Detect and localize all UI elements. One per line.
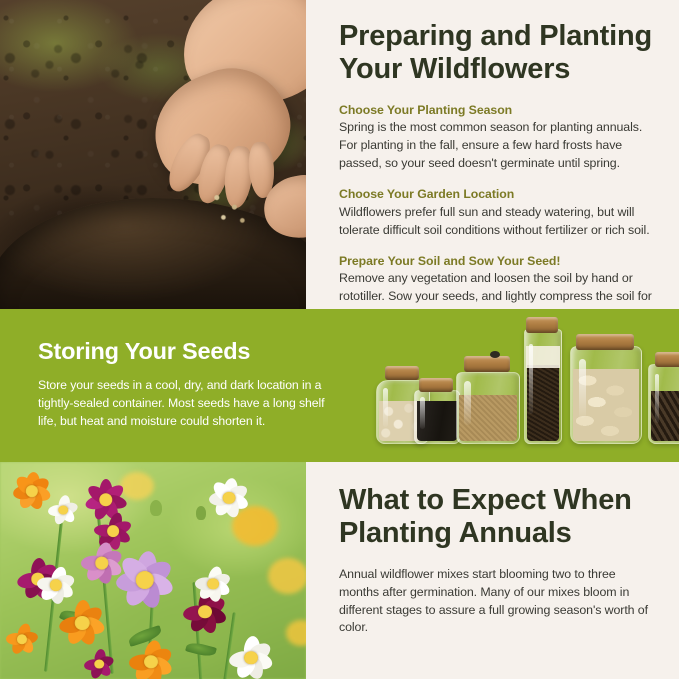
storing-title: Storing Your Seeds <box>38 338 338 365</box>
storing-text-group: Storing Your Seeds Store your seeds in a… <box>38 338 338 430</box>
storing-seeds-section: Storing Your Seeds Store your seeds in a… <box>0 309 679 462</box>
subhead-planting-season: Choose Your Planting Season <box>339 102 653 119</box>
preparing-section: Preparing and Planting Your Wildflowers … <box>0 0 679 309</box>
jar-knob <box>490 351 500 358</box>
seed-jar-pumpkin-seeds <box>570 334 640 444</box>
seed-jar-tall-tube <box>524 317 560 444</box>
text-block-planting-season: Choose Your Planting Season Spring is th… <box>339 102 653 174</box>
seed-jar-sunflower-seeds <box>648 352 679 444</box>
infographic-page: Preparing and Planting Your Wildflowers … <box>0 0 679 679</box>
seed-jar-black-seed <box>414 378 458 444</box>
flower-orange <box>56 598 108 648</box>
flower-orange-small <box>4 622 40 656</box>
flower-pink <box>78 540 126 586</box>
flower-orange <box>10 470 54 512</box>
page-title: Preparing and Planting Your Wildflowers <box>339 20 653 86</box>
expect-title: What to Expect When Planting Annuals <box>339 484 651 550</box>
seed-jars-photo <box>376 317 676 462</box>
storing-body: Store your seeds in a cool, dry, and dar… <box>38 376 338 430</box>
flower-white <box>226 634 276 679</box>
flower-white <box>206 476 252 520</box>
body-garden-location: Wildflowers prefer full sun and steady w… <box>339 204 653 240</box>
flower-bud <box>196 506 206 520</box>
expect-text-panel: What to Expect When Planting Annuals Ann… <box>309 462 679 679</box>
cork-lid-icon <box>419 378 453 392</box>
expect-section: What to Expect When Planting Annuals Ann… <box>0 462 679 679</box>
cork-lid-icon <box>576 334 634 350</box>
soil-planting-photo <box>0 0 306 309</box>
seed-jar-brown-grain <box>456 356 518 444</box>
flower-orange <box>126 638 176 679</box>
flower-magenta-small <box>82 648 116 679</box>
preparing-text-panel: Preparing and Planting Your Wildflowers … <box>309 0 679 309</box>
expect-body: Annual wildflower mixes start blooming t… <box>339 566 651 638</box>
cork-lid-icon <box>464 356 510 372</box>
cork-lid-icon <box>526 317 558 333</box>
subhead-prepare-soil: Prepare Your Soil and Sow Your Seed! <box>339 253 653 270</box>
subhead-garden-location: Choose Your Garden Location <box>339 186 653 203</box>
bokeh-blob <box>268 558 306 594</box>
text-block-garden-location: Choose Your Garden Location Wildflowers … <box>339 186 653 240</box>
hand-illustration <box>82 0 306 244</box>
flower-white <box>192 564 234 604</box>
body-planting-season: Spring is the most common season for pla… <box>339 119 653 173</box>
wildflower-photo <box>0 462 306 679</box>
cork-lid-icon <box>655 352 679 367</box>
flower-bud <box>150 500 162 516</box>
seeds-in-hand <box>208 190 252 228</box>
